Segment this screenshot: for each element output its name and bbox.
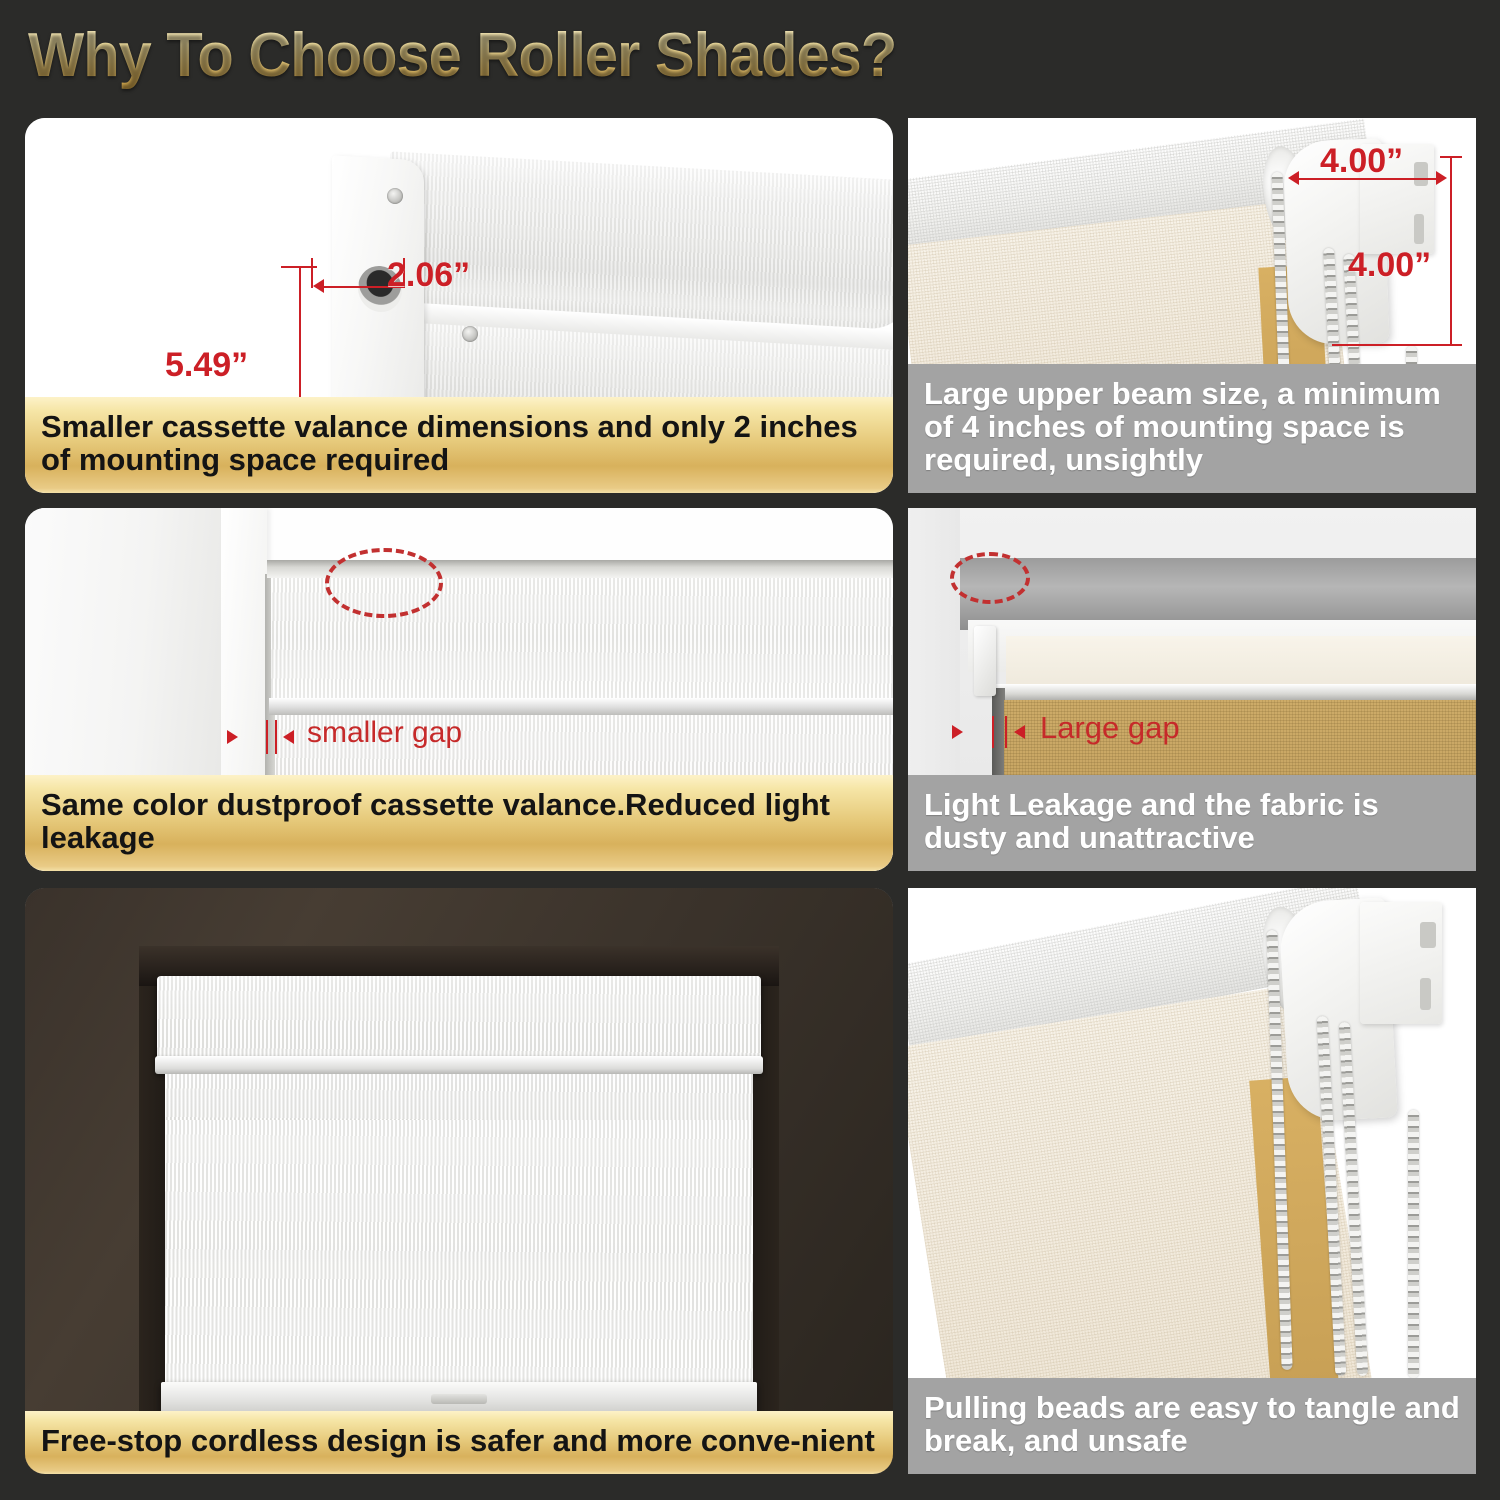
- gap-marker: [992, 716, 994, 748]
- screw-icon: [387, 188, 403, 204]
- comparison-grid: 2.06” 5.49” Smaller cassette valance dim…: [0, 0, 1500, 1500]
- height-dimension-label: 4.00”: [1348, 246, 1431, 285]
- roller-shade-fabric: [165, 1120, 753, 1382]
- gap-arrow-left-icon: [283, 730, 294, 744]
- dimension-arrow-left-icon: [313, 279, 324, 293]
- gap-marker: [1005, 716, 1007, 748]
- height-dimension-label: 5.49”: [165, 346, 248, 385]
- width-dimension-label: 2.06”: [387, 256, 470, 295]
- panel-pulling-beads: Pulling beads are easy to tangle and bre…: [908, 888, 1476, 1474]
- highlight-ellipse: [325, 548, 443, 618]
- bracket-slot: [1420, 922, 1436, 948]
- dimension-arrow-left-icon: [1288, 171, 1299, 185]
- panel-4-caption: Light Leakage and the fabric is dusty an…: [908, 775, 1476, 871]
- gap-callout-label: smaller gap: [307, 716, 462, 750]
- gap-arrow-right-icon: [952, 725, 963, 739]
- panel-5-image: [25, 888, 893, 1474]
- panel-cassette-dimensions: 2.06” 5.49” Smaller cassette valance dim…: [25, 118, 893, 493]
- panel-smaller-gap: smaller gap Same color dustproof cassett…: [25, 508, 893, 871]
- end-cap: [974, 626, 996, 696]
- panel-large-gap: Large gap Light Leakage and the fabric i…: [908, 508, 1476, 871]
- dimension-tick: [1332, 344, 1462, 346]
- highlight-ellipse: [950, 552, 1030, 604]
- height-dimension-line: [1450, 156, 1452, 346]
- panel-5-caption: Free-stop cordless design is safer and m…: [25, 1411, 893, 1474]
- screw-icon: [462, 326, 478, 342]
- bracket-slot: [1420, 978, 1431, 1010]
- gap-arrow-left-icon: [1014, 725, 1025, 739]
- dimension-arrow-right-icon: [1436, 171, 1447, 185]
- grip-handle: [431, 1394, 487, 1404]
- roller-shade-valance: [157, 976, 761, 1058]
- bracket-slot: [1414, 214, 1424, 244]
- gap-marker: [266, 720, 268, 754]
- gap-callout-label: Large gap: [1040, 710, 1180, 746]
- gap-arrow-right-icon: [227, 730, 238, 744]
- dimension-tick: [1440, 156, 1462, 158]
- dimension-tick: [281, 266, 317, 268]
- dimension-tick: [311, 258, 313, 288]
- bracket-slot: [1414, 162, 1428, 186]
- gap-marker: [275, 720, 277, 754]
- panel-2-caption: Large upper beam size, a minimum of 4 in…: [908, 364, 1476, 493]
- panel-large-upper-beam: 4.00” 4.00” Large upper beam size, a min…: [908, 118, 1476, 493]
- panel-1-caption: Smaller cassette valance dimensions and …: [25, 397, 893, 493]
- bead-chain: [1408, 1110, 1419, 1378]
- panel-6-caption: Pulling beads are easy to tangle and bre…: [908, 1378, 1476, 1474]
- panel-cordless-design: Free-stop cordless design is safer and m…: [25, 888, 893, 1474]
- panel-3-caption: Same color dustproof cassette valance.Re…: [25, 775, 893, 871]
- width-dimension-label: 4.00”: [1320, 142, 1403, 181]
